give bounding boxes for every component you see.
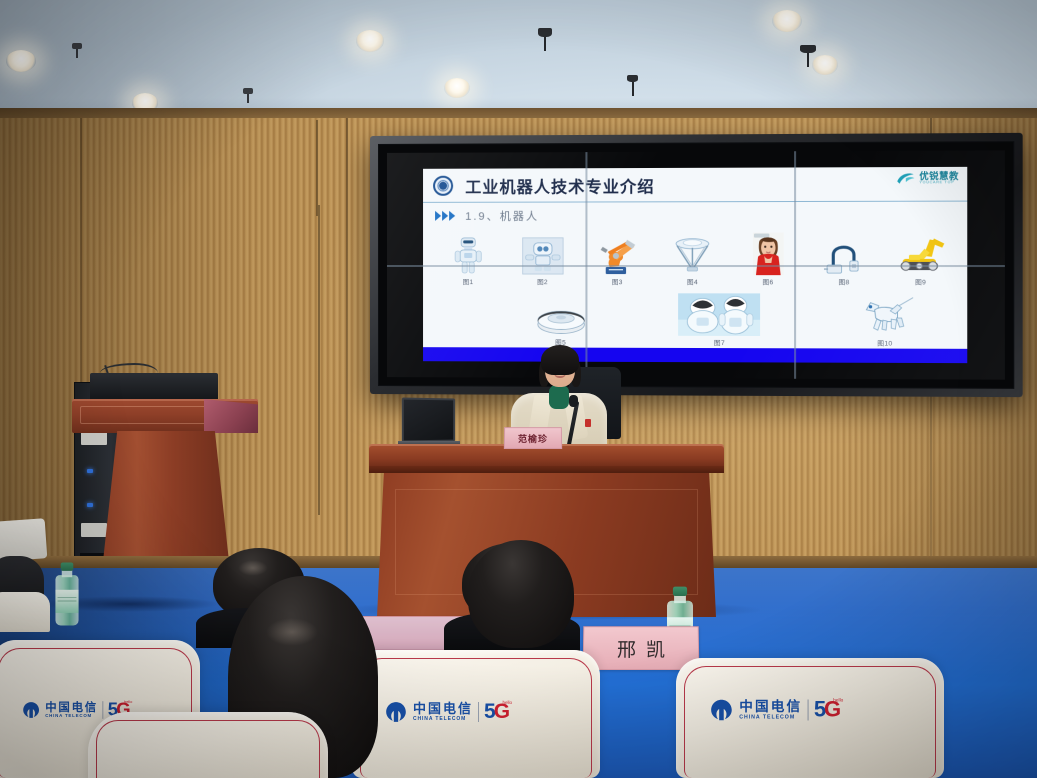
school-emblem-icon bbox=[433, 175, 453, 195]
figure-item: 图8 bbox=[806, 232, 882, 286]
humanoid-female-android-icon bbox=[730, 232, 806, 275]
figure-item: 图3 bbox=[580, 233, 655, 287]
ceiling-downlight bbox=[356, 30, 384, 52]
speaker-name-text: 范榆珍 bbox=[518, 432, 548, 445]
figure-caption: 图6 bbox=[730, 276, 806, 286]
brand-cn-label: 中国电信 bbox=[413, 702, 473, 715]
china-telecom-mark-icon bbox=[21, 701, 40, 719]
video-wall-screen: 工业机器人技术专业介绍 优锐慧教 YOUCARE TOP bbox=[378, 141, 1014, 389]
water-bottle bbox=[55, 563, 78, 626]
brand-cn-label: 中国电信 bbox=[45, 701, 98, 712]
brand-name-en: YOUCARE TOP bbox=[919, 181, 959, 185]
brand-en-label: CHINA TELECOM bbox=[413, 717, 473, 722]
scara-robot-arm-icon bbox=[806, 232, 882, 275]
5g-badge: 5 G hello bbox=[814, 697, 841, 722]
seat-name-text: 邢凯 bbox=[607, 635, 675, 662]
figure-caption: 图1 bbox=[431, 276, 505, 286]
logo-divider bbox=[102, 701, 103, 719]
table-edge bbox=[369, 466, 724, 473]
figure-caption: 图7 bbox=[650, 337, 790, 348]
figure-item: 图7 bbox=[650, 293, 790, 347]
sprinkler-icon bbox=[72, 43, 82, 49]
figure-caption: 图9 bbox=[882, 276, 959, 286]
china-telecom-text: 中国电信 CHINA TELECOM bbox=[413, 702, 473, 722]
white-service-robots-icon bbox=[650, 293, 790, 336]
figure-item: 图5 bbox=[515, 293, 607, 347]
slide-title: 工业机器人技术专业介绍 bbox=[465, 173, 654, 198]
slide-subtitle: 1.9、机器人 bbox=[465, 208, 539, 224]
swoosh-icon bbox=[896, 171, 915, 185]
china-telecom-logo: 中国电信 CHINA TELECOM 5 G hello bbox=[384, 700, 510, 724]
chevron-right-icon bbox=[435, 211, 457, 221]
figure-item: 图2 bbox=[505, 233, 580, 286]
slide-subtitle-row: 1.9、机器人 bbox=[423, 202, 967, 224]
orange-industrial-robot-arm-icon bbox=[580, 233, 655, 275]
yellow-tracked-rescue-robot-icon bbox=[882, 232, 959, 275]
hanging-wire bbox=[316, 120, 318, 216]
green-turtleneck bbox=[549, 385, 569, 409]
video-wall-display[interactable]: 工业机器人技术专业介绍 优锐慧教 YOUCARE TOP bbox=[370, 133, 1023, 397]
robot-vacuum-cleaner-icon bbox=[515, 293, 607, 335]
figure-row: 图1 bbox=[431, 225, 959, 286]
figure-caption: 图4 bbox=[655, 276, 730, 286]
slide-header: 工业机器人技术专业介绍 优锐慧教 YOUCARE TOP bbox=[423, 167, 967, 203]
wall-panel-seam bbox=[346, 118, 348, 620]
ceiling-sensor-icon bbox=[538, 28, 552, 37]
figure-caption: 图2 bbox=[505, 276, 580, 286]
microphone-head-icon bbox=[569, 395, 578, 407]
seat-name-card: 邢凯 bbox=[583, 626, 700, 670]
badge-sub: hello bbox=[833, 697, 843, 702]
5g-badge: 5 G hello bbox=[484, 700, 510, 724]
figure-item: 图6 bbox=[730, 232, 806, 286]
ceiling-downlight bbox=[772, 10, 802, 32]
presentation-slide: 工业机器人技术专业介绍 优锐慧教 YOUCARE TOP bbox=[423, 167, 967, 363]
ceiling-downlight bbox=[444, 78, 470, 98]
brand-text: 优锐慧教 YOUCARE TOP bbox=[919, 172, 959, 185]
lapel-badge bbox=[585, 419, 591, 427]
hair-highlight bbox=[238, 560, 268, 576]
robot-dog-icon bbox=[833, 293, 937, 336]
ceiling-downlight bbox=[812, 55, 838, 75]
figure-grid: 图1 bbox=[423, 223, 967, 348]
ceiling-sensor-icon bbox=[627, 75, 638, 82]
badge-sub: hello bbox=[503, 700, 513, 705]
hanging-wire bbox=[318, 205, 320, 515]
laptop-screen bbox=[402, 398, 455, 443]
conference-room-photo: 工业机器人技术专业介绍 优锐慧教 YOUCARE TOP bbox=[0, 0, 1037, 778]
logo-divider bbox=[808, 700, 809, 721]
brand-en-label: CHINA TELECOM bbox=[739, 715, 802, 720]
humanoid-toy-robot-icon bbox=[431, 233, 505, 275]
podium-top-side bbox=[204, 399, 258, 433]
speaker-hair bbox=[541, 345, 579, 375]
figure-item: 图9 bbox=[882, 232, 959, 286]
figure-caption: 图10 bbox=[833, 337, 937, 347]
audience-chair-front[interactable] bbox=[88, 712, 328, 778]
china-telecom-logo: 中国电信 CHINA TELECOM 5 G hello bbox=[709, 697, 841, 722]
brand-en-label: CHINA TELECOM bbox=[45, 714, 98, 718]
china-telecom-text: 中国电信 CHINA TELECOM bbox=[45, 701, 98, 718]
sprinkler-icon bbox=[243, 88, 253, 94]
audience-chair[interactable]: 中国电信 CHINA TELECOM 5 G hello bbox=[352, 650, 600, 778]
educational-robot-kit-icon bbox=[505, 233, 580, 275]
china-telecom-mark-icon bbox=[384, 701, 408, 723]
delta-parallel-robot-icon bbox=[655, 233, 730, 276]
laptop-computer[interactable] bbox=[398, 398, 460, 450]
china-telecom-mark-icon bbox=[709, 698, 734, 721]
figure-row: 图5 bbox=[431, 286, 959, 348]
figure-item: 图10 bbox=[833, 293, 937, 347]
audience-head-foreground bbox=[468, 540, 574, 648]
logo-divider bbox=[478, 702, 479, 722]
brand-logo: 优锐慧教 YOUCARE TOP bbox=[896, 171, 958, 185]
china-telecom-text: 中国电信 CHINA TELECOM bbox=[739, 700, 802, 720]
figure-item: 图1 bbox=[431, 233, 505, 286]
brand-cn-label: 中国电信 bbox=[739, 700, 802, 714]
audience-chair-left-edge bbox=[0, 592, 50, 632]
hair-highlight bbox=[266, 618, 318, 646]
audience-chair[interactable]: 中国电信 CHINA TELECOM 5 G hello bbox=[676, 658, 944, 778]
figure-caption: 图3 bbox=[580, 276, 655, 286]
badge-sub: hello bbox=[124, 699, 132, 703]
speaker-name-card: 范榆珍 bbox=[504, 427, 562, 449]
figure-item: 图4 bbox=[655, 233, 730, 287]
ceiling-sensor-icon bbox=[800, 45, 816, 53]
figure-caption: 图8 bbox=[806, 276, 882, 286]
ceiling-downlight bbox=[6, 50, 36, 72]
